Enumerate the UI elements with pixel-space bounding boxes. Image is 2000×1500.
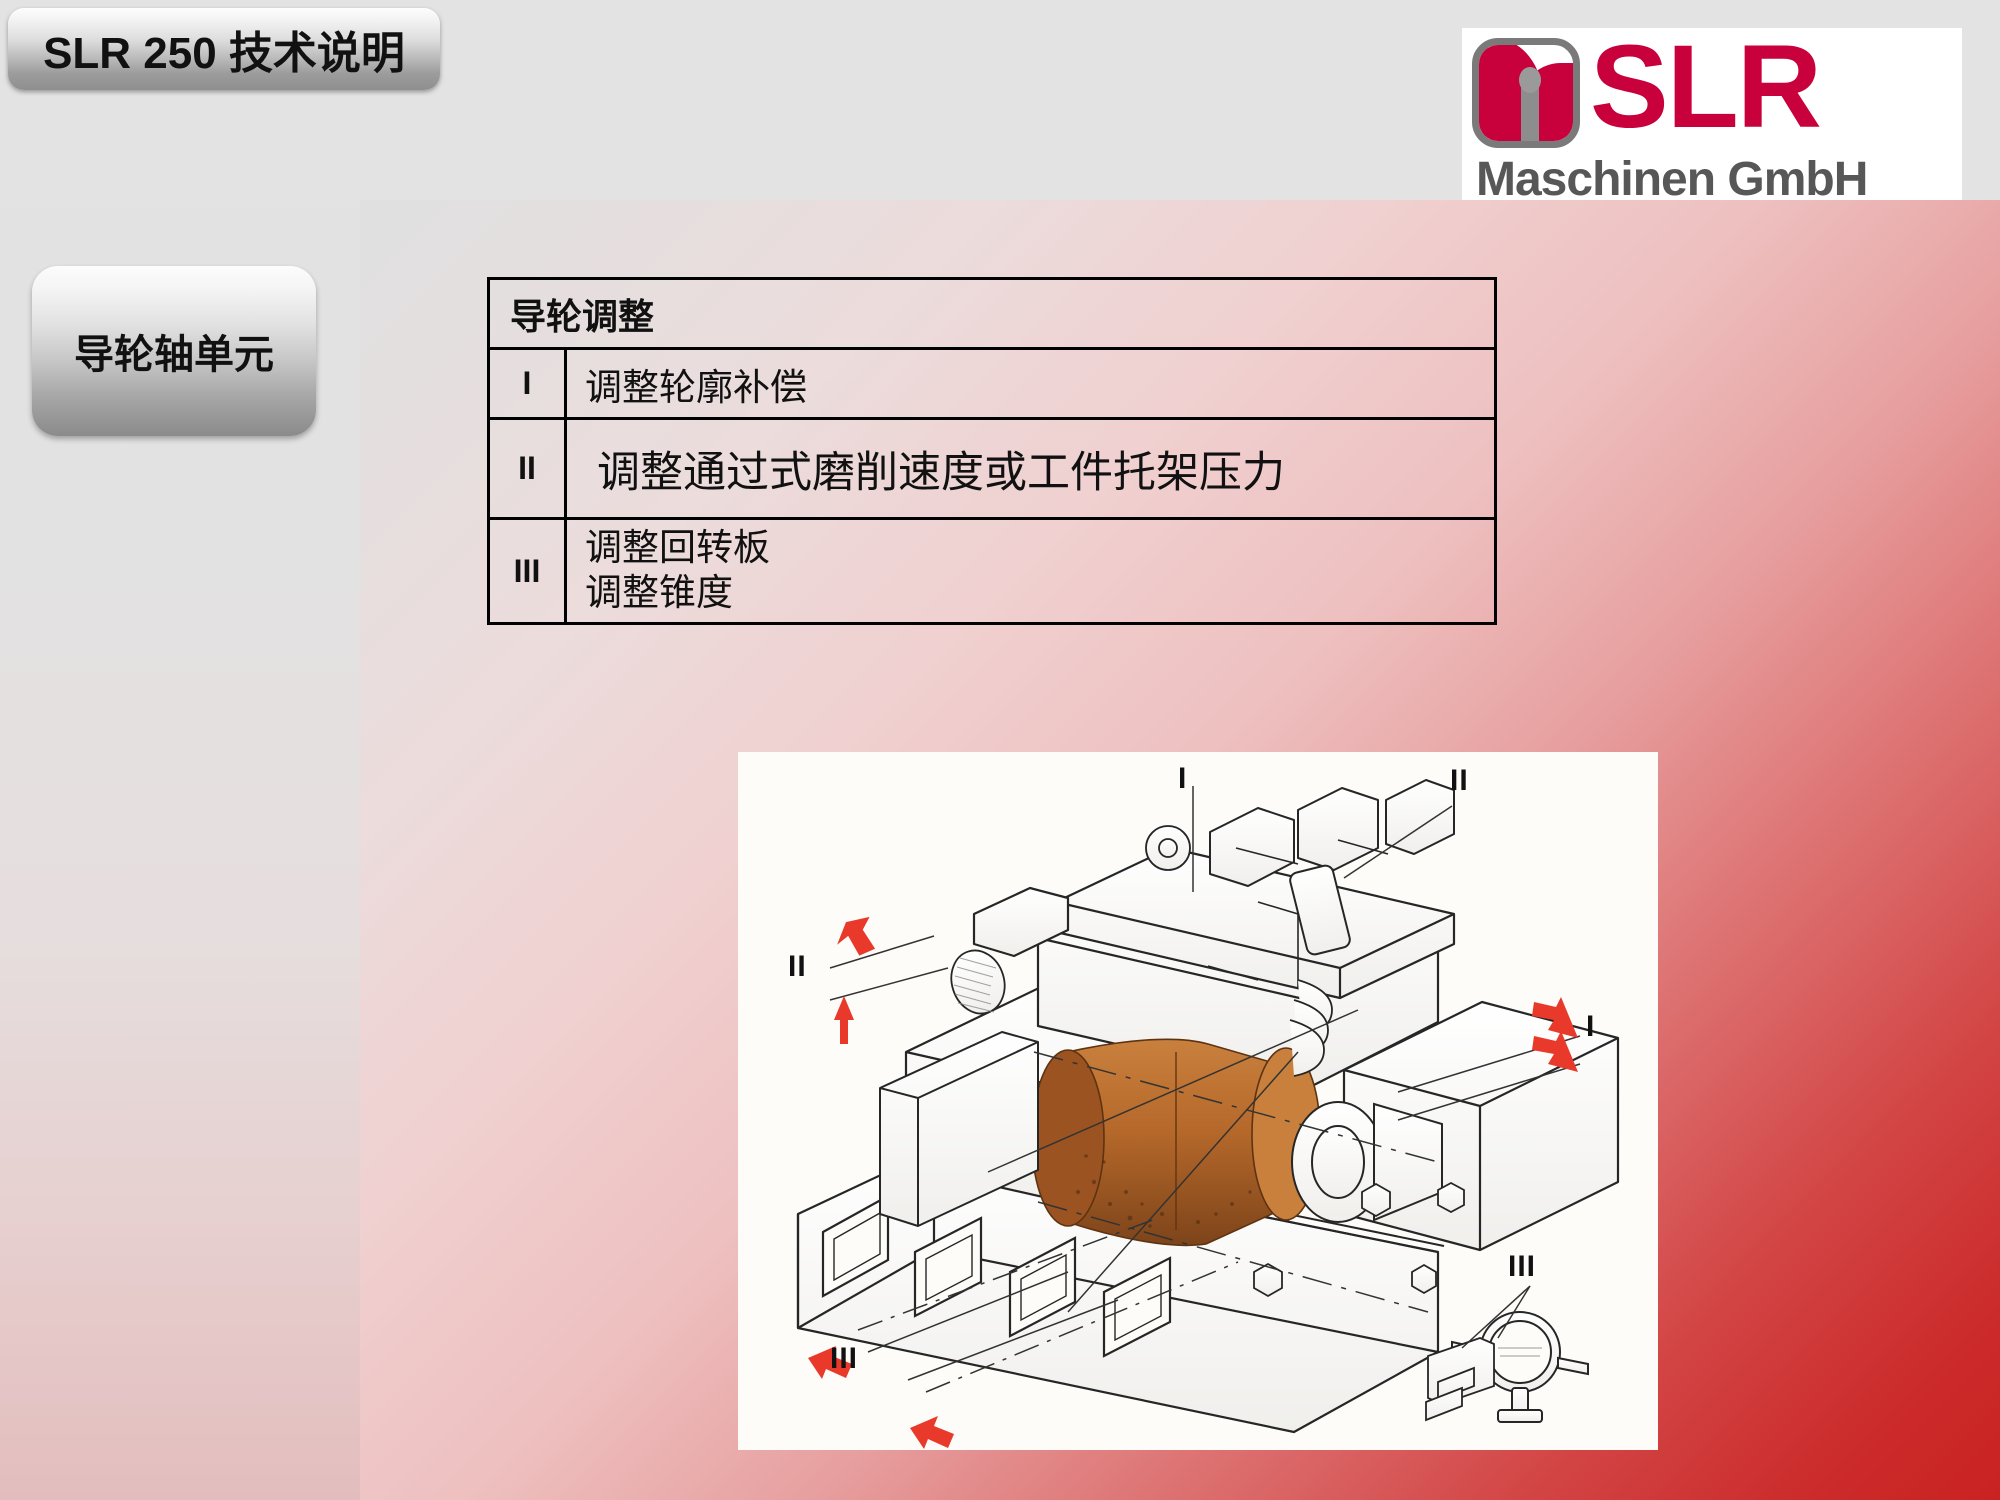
machine-drawing-svg [738, 752, 1658, 1450]
callout-II-left: II [788, 950, 807, 984]
slr-logo-mark-icon [1472, 38, 1580, 148]
adjustment-table: 导轮调整 I 调整轮廓补偿 II 调整通过式磨削速度或工件托架压力 III 调整… [487, 277, 1497, 625]
callout-I-right: I [1586, 1010, 1595, 1044]
callout-III-right: III [1508, 1250, 1536, 1284]
sidebar-item-label: 导轮轴单元 [74, 322, 274, 380]
slide-canvas: SLR 250 技术说明 SLR Maschinen GmbH 导轮轴单元 导轮… [0, 0, 2000, 1500]
sidebar-item-guide-wheel-axis-unit[interactable]: 导轮轴单元 [32, 266, 316, 436]
row-text-line1: 调整回转板 [585, 526, 1494, 571]
logo-shape-pin-head [1519, 67, 1541, 93]
page-title-pill[interactable]: SLR 250 技术说明 [8, 8, 440, 90]
machine-illustration: I II II I III III [738, 752, 1658, 1450]
row-numeral: III [489, 519, 566, 624]
table-row[interactable]: II 调整通过式磨削速度或工件托架压力 [489, 419, 1496, 519]
page-title: SLR 250 技术说明 [43, 17, 405, 81]
table-row[interactable]: I 调整轮廓补偿 [489, 349, 1496, 419]
callout-II-right: II [1450, 764, 1469, 798]
row-text: 调整轮廓补偿 [566, 349, 1496, 419]
row-numeral: I [489, 349, 566, 419]
row-text-line2: 调整锥度 [585, 571, 1494, 616]
callout-III-left: III [830, 1342, 858, 1376]
row-text: 调整通过式磨削速度或工件托架压力 [566, 419, 1496, 519]
table-row[interactable]: III 调整回转板 调整锥度 [489, 519, 1496, 624]
table-header-cell: 导轮调整 [489, 279, 1496, 349]
logo-row: SLR [1462, 28, 1962, 156]
row-text: 调整回转板 调整锥度 [566, 519, 1496, 624]
row-numeral: II [489, 419, 566, 519]
logo-subtitle: Maschinen GmbH [1476, 152, 1867, 200]
callout-I-top: I [1178, 762, 1187, 796]
logo-wordmark: SLR [1590, 28, 1820, 150]
table-header-row: 导轮调整 [489, 279, 1496, 349]
slr-logo: SLR Maschinen GmbH [1462, 28, 1962, 200]
